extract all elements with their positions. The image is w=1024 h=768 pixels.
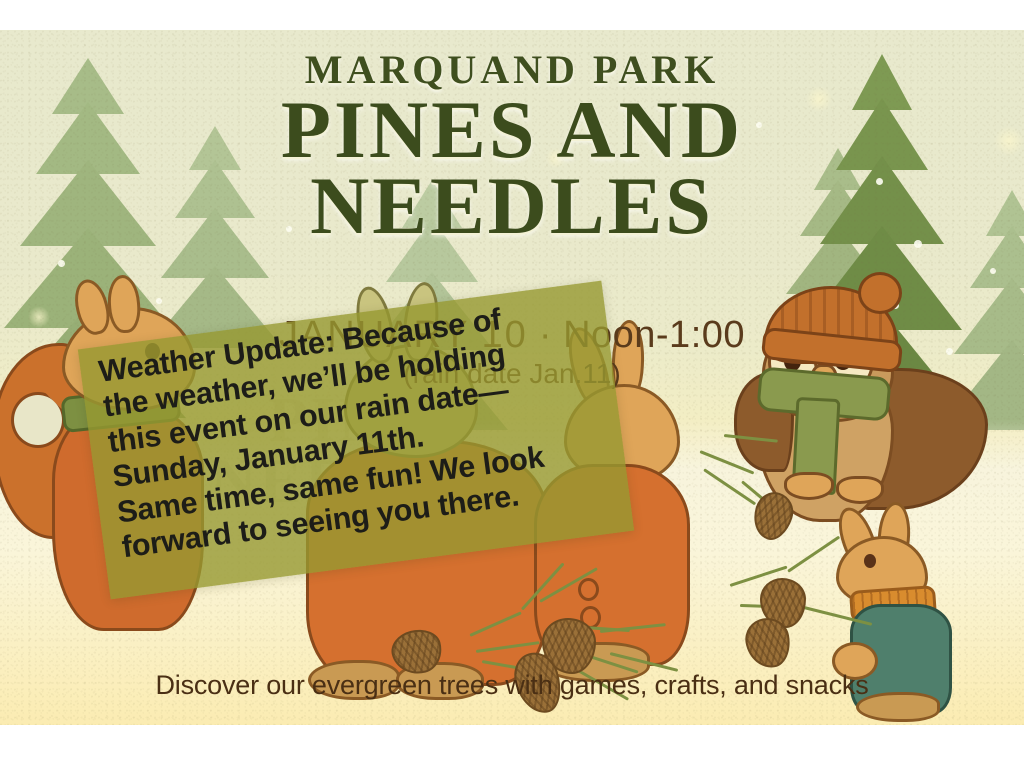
poster-title-line-1: PINES AND [0,92,1024,168]
poster-heading-block: MARQUAND PARK PINES AND NEEDLES [0,50,1024,245]
snow-dot [156,298,162,304]
event-poster: PINES NEEDLES [0,30,1024,725]
poster-tagline: Discover our evergreen trees with games,… [0,670,1024,701]
owl-beanie-pompom [858,272,902,314]
poster-title-line-2: NEEDLES [0,168,1024,244]
rabbit-orange-button-top [578,578,599,601]
owl-talon-right [836,476,884,504]
snow-dot [990,268,996,274]
rabbit-small-eye [864,554,876,568]
snow-dot [58,260,65,267]
screenshot-root: PINES NEEDLES [0,0,1024,768]
owl-talon-left [784,472,834,500]
